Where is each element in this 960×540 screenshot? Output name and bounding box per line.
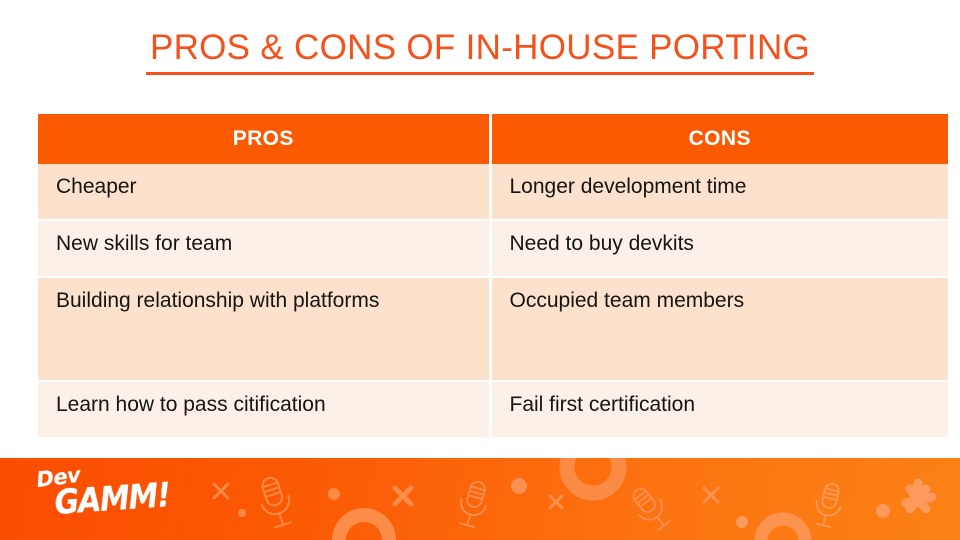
microphone-icon	[245, 468, 307, 537]
logo-text-gamm: GAMM!	[53, 476, 171, 523]
microphone-icon	[618, 475, 684, 540]
cell-pros: Cheaper	[38, 164, 490, 220]
table-row: New skills for team Need to buy devkits	[38, 220, 948, 277]
page-title-container: PROS & CONS OF IN-HOUSE PORTING	[0, 28, 960, 75]
dot-icon	[876, 504, 890, 518]
table-row: Learn how to pass citification Fail firs…	[38, 381, 948, 438]
cell-cons: Fail first certification	[490, 381, 948, 438]
cross-icon	[546, 492, 566, 512]
cell-cons: Longer development time	[490, 164, 948, 220]
devgamm-logo: Dev GAMM!	[34, 466, 184, 532]
dot-icon	[736, 516, 748, 528]
table-row: Cheaper Longer development time	[38, 164, 948, 220]
sparkle-icon	[892, 473, 944, 525]
dot-icon	[238, 509, 246, 517]
cell-pros: Building relationship with platforms	[38, 277, 490, 381]
column-header-cons: CONS	[490, 114, 948, 164]
ring-icon	[558, 458, 628, 502]
ring-icon	[330, 506, 398, 540]
footer-band: Dev GAMM!	[0, 458, 960, 540]
table-row: Building relationship with platforms Occ…	[38, 277, 948, 381]
dot-icon	[328, 488, 340, 500]
cell-pros: Learn how to pass citification	[38, 381, 490, 438]
microphone-icon	[445, 473, 500, 536]
column-header-pros: PROS	[38, 114, 490, 164]
ring-icon	[752, 510, 814, 540]
cross-icon	[700, 484, 722, 506]
table-header-row: PROS CONS	[38, 114, 948, 164]
dot-icon	[511, 478, 527, 494]
cell-cons: Need to buy devkits	[490, 220, 948, 277]
microphone-icon	[802, 476, 853, 536]
cross-icon	[390, 483, 416, 509]
cross-icon	[210, 480, 232, 502]
pros-cons-table: PROS CONS Cheaper Longer development tim…	[38, 114, 948, 439]
slide: PROS & CONS OF IN-HOUSE PORTING PROS CON…	[0, 0, 960, 540]
cell-pros: New skills for team	[38, 220, 490, 277]
page-title: PROS & CONS OF IN-HOUSE PORTING	[146, 28, 814, 75]
cell-cons: Occupied team members	[490, 277, 948, 381]
